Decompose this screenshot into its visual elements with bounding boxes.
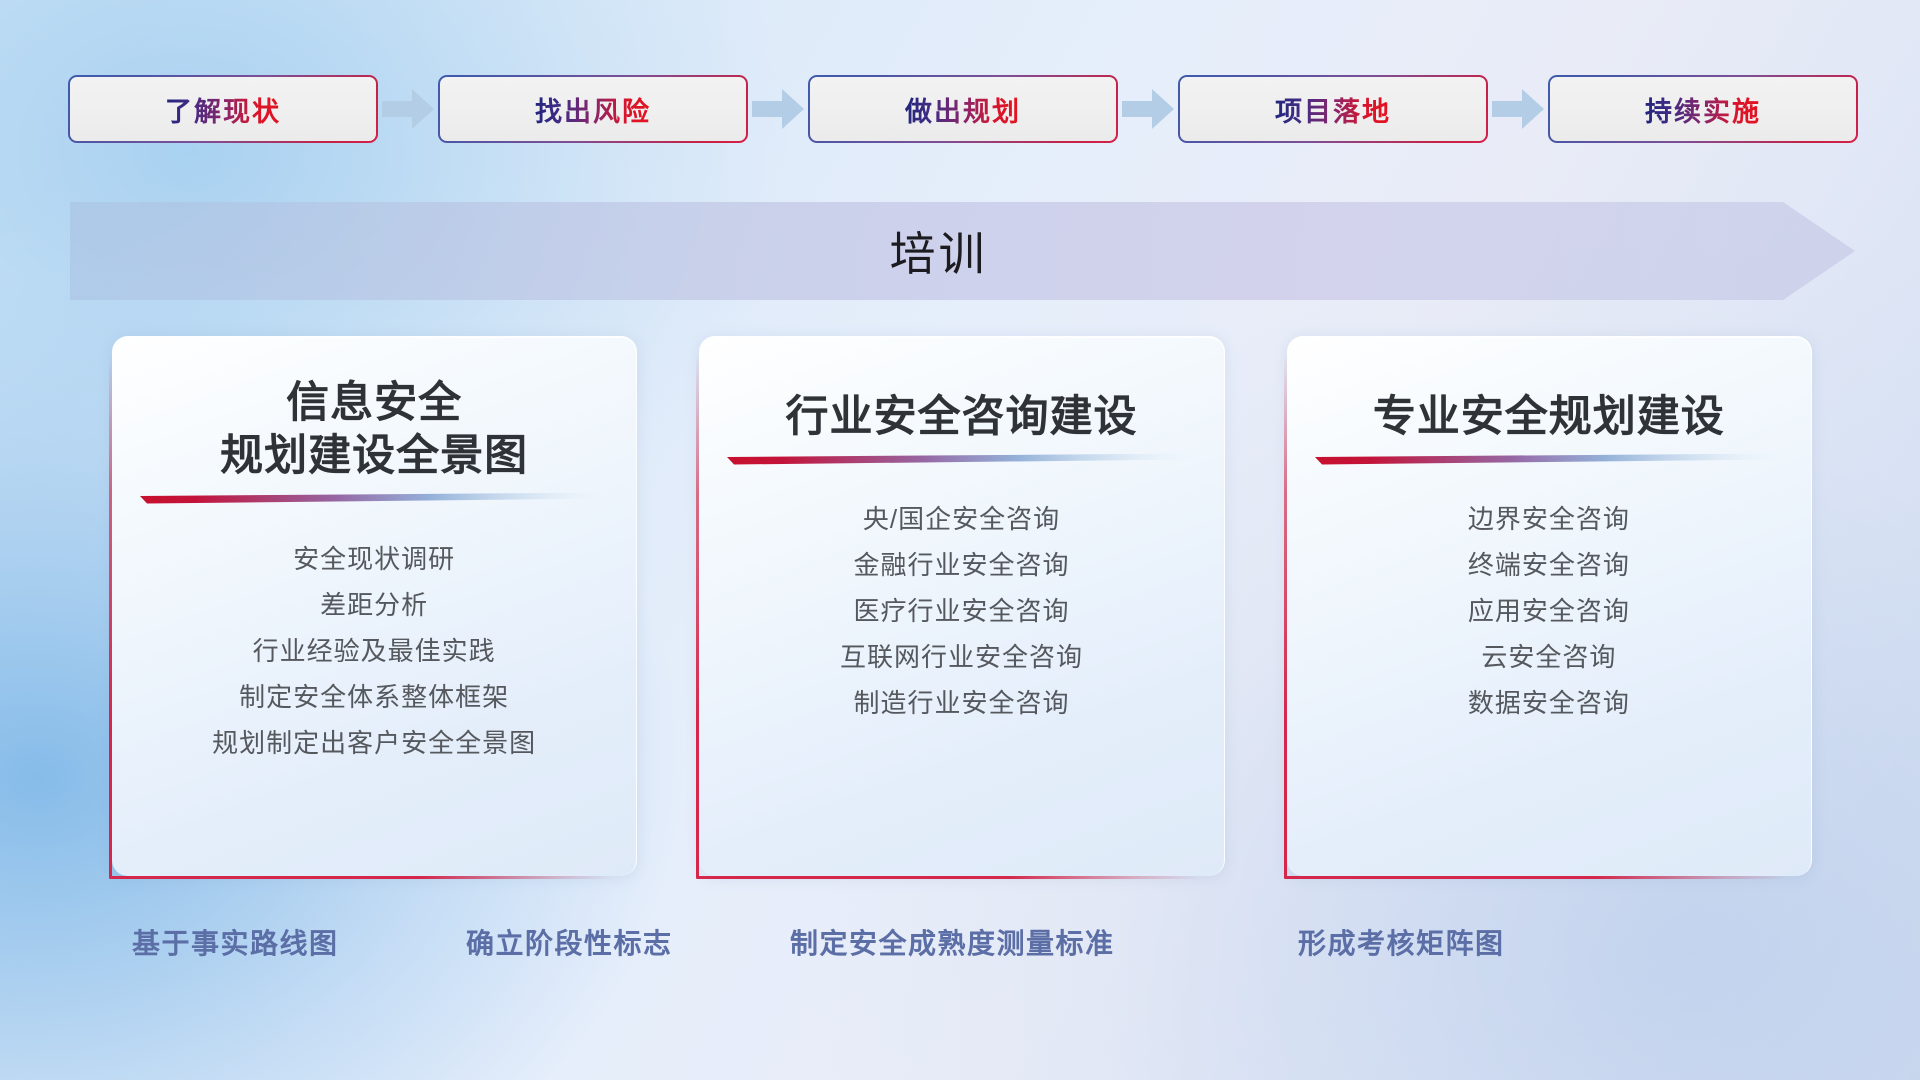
list-item[interactable]: 边界安全咨询 <box>1305 496 1793 542</box>
list-item[interactable]: 安全现状调研 <box>130 536 618 582</box>
service-card-1[interactable]: 信息安全规划建设全景图 安全现状调研差距分析行业经验及最佳实践制定安全体系整体框… <box>112 336 637 876</box>
step-label: 了解现状 <box>165 90 281 129</box>
list-item[interactable]: 互联网行业安全咨询 <box>717 634 1205 680</box>
list-item[interactable]: 数据安全咨询 <box>1305 680 1793 726</box>
service-card-2[interactable]: 行业安全咨询建设 央/国企安全咨询金融行业安全咨询医疗行业安全咨询互联网行业安全… <box>699 336 1224 876</box>
arrow-right-icon <box>378 87 438 131</box>
banner-title: 培训 <box>70 202 1855 300</box>
card-title-line: 专业安全规划建设 <box>1311 391 1787 444</box>
step-box-inner: 找出风险 <box>440 77 746 141</box>
card-item-list: 央/国企安全咨询金融行业安全咨询医疗行业安全咨询互联网行业安全咨询制造行业安全咨… <box>717 496 1205 726</box>
list-item[interactable]: 制定安全体系整体框架 <box>130 674 618 720</box>
card-divider <box>727 453 1195 466</box>
footnote-label-4: 形成考核矩阵图 <box>1298 922 1505 962</box>
step-label: 找出风险 <box>535 90 651 129</box>
card-title: 行业安全咨询建设 <box>723 391 1199 444</box>
list-item[interactable]: 差距分析 <box>130 582 618 628</box>
card-row: 信息安全规划建设全景图 安全现状调研差距分析行业经验及最佳实践制定安全体系整体框… <box>112 336 1812 876</box>
card-divider-wrap <box>727 444 1195 474</box>
step-box-2[interactable]: 找出风险 <box>438 75 748 143</box>
card-title: 专业安全规划建设 <box>1311 391 1787 444</box>
arrow-right-icon <box>748 87 808 131</box>
step-label: 做出规划 <box>905 90 1021 129</box>
step-box-5[interactable]: 持续实施 <box>1548 75 1858 143</box>
card-item-list: 边界安全咨询终端安全咨询应用安全咨询云安全咨询数据安全咨询 <box>1305 496 1793 726</box>
list-item[interactable]: 应用安全咨询 <box>1305 588 1793 634</box>
footnote-label-2: 确立阶段性标志 <box>466 922 673 962</box>
step-label: 持续实施 <box>1645 90 1761 129</box>
step-label: 项目落地 <box>1275 90 1391 129</box>
list-item[interactable]: 行业经验及最佳实践 <box>130 628 618 674</box>
list-item[interactable]: 制造行业安全咨询 <box>717 680 1205 726</box>
list-item[interactable]: 医疗行业安全咨询 <box>717 588 1205 634</box>
list-item[interactable]: 规划制定出客户安全全景图 <box>130 720 618 766</box>
service-card-3[interactable]: 专业安全规划建设 边界安全咨询终端安全咨询应用安全咨询云安全咨询数据安全咨询 <box>1287 336 1812 876</box>
card-title-line: 信息安全 <box>136 377 612 430</box>
card-divider <box>1315 453 1783 466</box>
list-item[interactable]: 央/国企安全咨询 <box>717 496 1205 542</box>
card-title-line: 行业安全咨询建设 <box>723 391 1199 444</box>
card-divider-wrap <box>1315 444 1783 474</box>
card-title: 信息安全规划建设全景图 <box>136 377 612 484</box>
list-item[interactable]: 终端安全咨询 <box>1305 542 1793 588</box>
slide-canvas: 了解现状 找出风险 做出规划 项目落地 持续实施 培训 信息安全规划建设全景图 <box>0 0 1920 1080</box>
footnote-row: 基于事实路线图确立阶段性标志制定安全成熟度测量标准形成考核矩阵图 <box>0 922 1920 970</box>
arrow-right-icon <box>1488 87 1548 131</box>
card-title-line: 规划建设全景图 <box>136 430 612 483</box>
list-item[interactable]: 金融行业安全咨询 <box>717 542 1205 588</box>
footnote-label-1: 基于事实路线图 <box>132 922 339 962</box>
step-box-inner: 项目落地 <box>1180 77 1486 141</box>
step-box-inner: 持续实施 <box>1550 77 1856 141</box>
step-box-inner: 了解现状 <box>70 77 376 141</box>
step-box-3[interactable]: 做出规划 <box>808 75 1118 143</box>
step-box-1[interactable]: 了解现状 <box>68 75 378 143</box>
step-box-inner: 做出规划 <box>810 77 1116 141</box>
step-box-4[interactable]: 项目落地 <box>1178 75 1488 143</box>
arrow-right-icon <box>1118 87 1178 131</box>
card-divider <box>140 492 608 505</box>
training-banner: 培训 <box>70 202 1855 300</box>
footnote-label-3: 制定安全成熟度测量标准 <box>790 922 1115 962</box>
card-item-list: 安全现状调研差距分析行业经验及最佳实践制定安全体系整体框架规划制定出客户安全全景… <box>130 536 618 766</box>
process-step-row: 了解现状 找出风险 做出规划 项目落地 持续实施 <box>68 74 1858 144</box>
list-item[interactable]: 云安全咨询 <box>1305 634 1793 680</box>
card-divider-wrap <box>140 484 608 514</box>
